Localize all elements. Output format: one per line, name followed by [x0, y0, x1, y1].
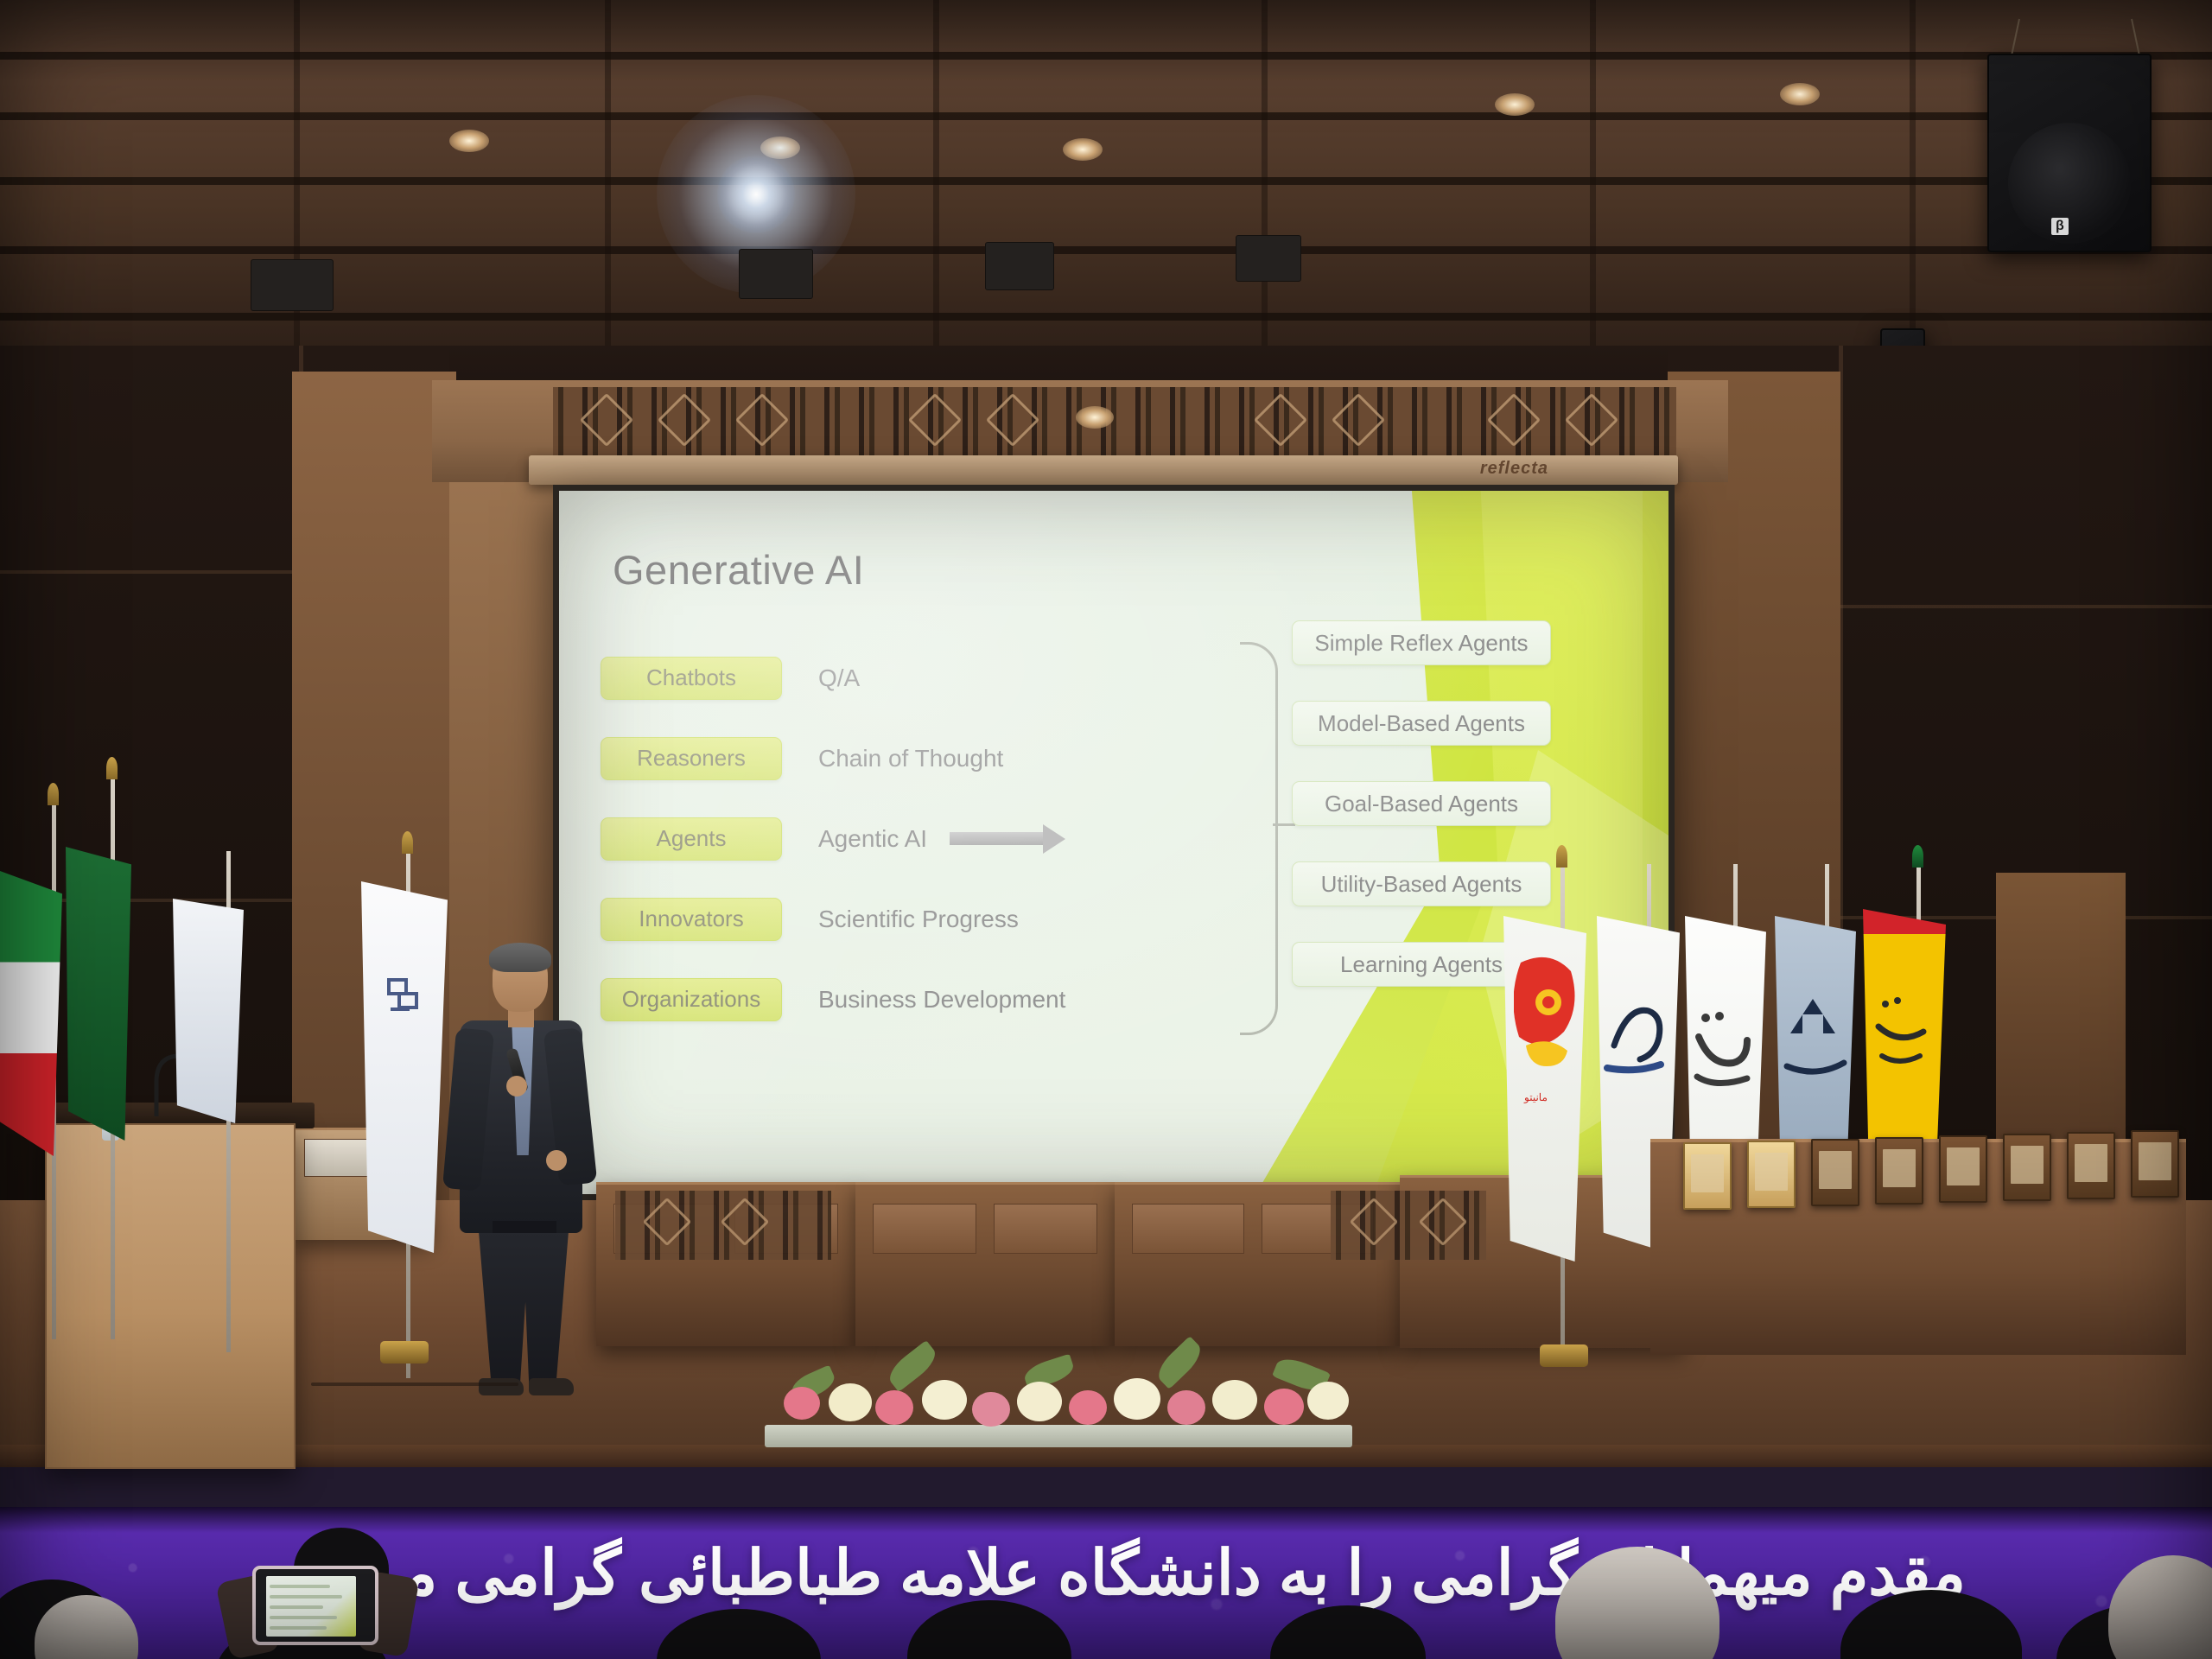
decorative-lattice-band: [553, 387, 1676, 461]
stage-light-fixture: [251, 259, 334, 311]
floral-bloom: [1017, 1382, 1062, 1421]
ceiling-beam: [0, 112, 2212, 120]
award-plaque: [1875, 1137, 1923, 1205]
flag-sponsor-blue-emblem-icon: [1604, 985, 1673, 1089]
plaque-plate: [1755, 1153, 1788, 1191]
ceiling-beam: [0, 313, 2212, 321]
stage-light-fixture: [1236, 235, 1301, 282]
slide-label-qa: Q/A: [818, 664, 860, 692]
presenter-hand-right: [546, 1150, 567, 1171]
floral-bloom: [1069, 1390, 1107, 1425]
slide-pill-simple-reflex-agents: Simple Reflex Agents: [1292, 620, 1551, 665]
floral-bloom: [1114, 1378, 1160, 1420]
slide-label-business-development: Business Development: [818, 986, 1065, 1014]
lattice-cell: [1350, 1198, 1399, 1247]
plaque-plate: [2011, 1146, 2044, 1184]
flag-base: [1540, 1344, 1588, 1367]
curly-brace-icon: [1240, 642, 1278, 1035]
ceiling-downlight: [449, 130, 489, 152]
plaque-plate: [2139, 1142, 2171, 1180]
slide-pill-chatbots: Chatbots: [601, 657, 782, 700]
speaker-brand-icon: β: [2051, 218, 2069, 235]
flag-iran: [0, 871, 62, 1156]
projection-screen: Generative AI Chatbots Q/A Reasoners Cha…: [553, 485, 1675, 1200]
slide-pill-innovators: Innovators: [601, 898, 782, 941]
flag-university: [361, 881, 448, 1253]
slide-pill-goal-based-agents: Goal-Based Agents: [1292, 781, 1551, 826]
screen-surface: Generative AI Chatbots Q/A Reasoners Cha…: [559, 491, 1669, 1194]
floral-bloom: [1307, 1382, 1349, 1420]
lattice-cell: [1487, 393, 1541, 447]
floral-bloom: [829, 1383, 872, 1421]
presenter-belt: [493, 1221, 556, 1233]
presentation-slide: Generative AI Chatbots Q/A Reasoners Cha…: [559, 491, 1669, 1194]
projector-screen-housing: reflecta: [529, 455, 1678, 485]
ceiling-slat: [1910, 0, 1916, 372]
award-plaque: [2003, 1134, 2051, 1201]
lattice-cell: [580, 393, 633, 447]
projector-screen-brand-label: reflecta: [1480, 459, 1548, 479]
phone-screen-line: [270, 1626, 327, 1630]
slide-label-scientific-progress: Scientific Progress: [818, 906, 1019, 933]
flag-sponsor-gray-emblem-icon: [1782, 985, 1849, 1106]
slide-pill-agents: Agents: [601, 817, 782, 861]
flagpole-finial-icon: [1556, 845, 1567, 868]
lattice-cell: [721, 1198, 770, 1247]
slide-title: Generative AI: [613, 546, 864, 594]
ceiling-beam: [0, 246, 2212, 254]
slide-pill-organizations: Organizations: [601, 978, 782, 1021]
flag-white-institutional: [173, 899, 244, 1123]
slide-label-agentic-ai: Agentic AI: [818, 825, 927, 853]
flag-base: [380, 1341, 429, 1363]
flagpole-finial-icon: [48, 783, 59, 805]
cabinet-panel: [873, 1204, 976, 1254]
presenter-shoe: [529, 1378, 574, 1395]
award-plaque: [2067, 1132, 2115, 1199]
lattice-cell: [1419, 1198, 1468, 1247]
flag-green-institutional: [66, 847, 131, 1141]
ceiling-slat: [294, 0, 300, 372]
ceiling-speaker: β: [1987, 54, 2152, 252]
award-plaque: [1939, 1135, 1987, 1203]
lectern: دانشگاه علامه طباطبائی دانشکده مدیریت و …: [45, 1123, 296, 1469]
slide-pill-reasoners: Reasoners: [601, 737, 782, 780]
ceiling-slat: [605, 0, 611, 372]
flagpole-finial-icon: [106, 757, 118, 779]
cabinet-lattice: [1331, 1191, 1486, 1260]
plaque-plate: [1883, 1149, 1916, 1187]
floral-bloom: [784, 1387, 820, 1420]
lattice-cell: [1565, 393, 1618, 447]
award-plaque: [1747, 1141, 1796, 1208]
stage-light-fixture: [985, 242, 1054, 290]
presenter-legs: [479, 1231, 569, 1385]
slide-label-chain-of-thought: Chain of Thought: [818, 745, 1003, 772]
speaker-cone-icon: [2008, 123, 2131, 244]
phone-screen-line: [270, 1605, 323, 1609]
floral-bloom: [1264, 1389, 1304, 1425]
stage-floral-arrangement: [765, 1335, 1352, 1447]
ceiling: [0, 0, 2212, 372]
award-plaque: [2131, 1130, 2179, 1198]
floral-bloom: [1212, 1380, 1257, 1420]
floral-base: [765, 1425, 1352, 1447]
award-plaque: [1811, 1139, 1859, 1206]
auditorium-photo: β reflecta Gen: [0, 0, 2212, 1659]
presenter-shoe: [479, 1378, 524, 1395]
arrow-shaft: [950, 832, 1043, 845]
slide-pill-model-based-agents: Model-Based Agents: [1292, 701, 1551, 746]
phone-screen-line: [270, 1616, 337, 1619]
phone-screen: [266, 1576, 356, 1637]
lattice-cell: [658, 393, 711, 447]
lattice-cell: [1332, 393, 1385, 447]
plaque-plate: [1691, 1154, 1724, 1192]
ceiling-slat: [1590, 0, 1596, 372]
ceiling-beam: [0, 177, 2212, 185]
flag-university-emblem-icon: [380, 968, 429, 1028]
floral-leaf: [1153, 1336, 1207, 1389]
slide-pill-utility-based-agents: Utility-Based Agents: [1292, 861, 1551, 906]
floral-bloom: [1167, 1390, 1205, 1425]
flag-sponsor-yellow-emblem-icon: [1873, 992, 1935, 1096]
flagpole-finial-icon: [402, 831, 413, 854]
flagpole-finial-icon: [1912, 845, 1923, 868]
cabinet-lattice: [615, 1191, 831, 1260]
proscenium-downlight: [1076, 406, 1114, 429]
ceiling-beam: [0, 52, 2212, 60]
ceiling-downlight: [1063, 138, 1103, 161]
presenter-hand-left: [506, 1076, 527, 1096]
stage-light-fixture: [739, 249, 813, 299]
ceiling-downlight: [1780, 83, 1820, 105]
presenter: [439, 946, 603, 1395]
floral-bloom: [922, 1380, 967, 1420]
svg-text:مانیتو: مانیتو: [1523, 1091, 1548, 1103]
lattice-cell: [908, 393, 962, 447]
plaque-plate: [1947, 1147, 1980, 1185]
slide-arrow-icon: [950, 824, 1065, 854]
lattice-cell: [1254, 393, 1307, 447]
flag-sponsor-white-emblem-icon: [1692, 1002, 1758, 1106]
plaque-plate: [1819, 1151, 1852, 1189]
floral-bloom: [972, 1392, 1010, 1427]
floral-bloom: [875, 1390, 913, 1425]
ceiling-downlight: [760, 137, 800, 159]
ceiling-slat: [1262, 0, 1268, 372]
cabinet-panel: [994, 1204, 1097, 1254]
floor-cable: [311, 1382, 518, 1386]
phone-screen-line: [270, 1595, 342, 1599]
stage-front-fascia: [0, 1467, 2212, 1507]
ceiling-downlight: [1495, 93, 1535, 116]
ceiling-slat: [933, 0, 939, 372]
flag-sponsor-red-emblem-icon: مانیتو: [1514, 949, 1578, 1113]
arrow-head: [1043, 824, 1065, 854]
lattice-cell: [986, 393, 1039, 447]
stage-edge: [0, 1445, 2212, 1467]
audience-phone: [252, 1566, 378, 1645]
stage-cabinet: [855, 1182, 1115, 1346]
presenter-hair: [489, 943, 551, 972]
lattice-cell: [643, 1198, 692, 1247]
cabinet-panel: [1132, 1204, 1244, 1254]
award-plaque: [1683, 1142, 1732, 1210]
lattice-cell: [735, 393, 789, 447]
phone-screen-line: [270, 1585, 330, 1588]
plaque-plate: [2075, 1144, 2107, 1182]
